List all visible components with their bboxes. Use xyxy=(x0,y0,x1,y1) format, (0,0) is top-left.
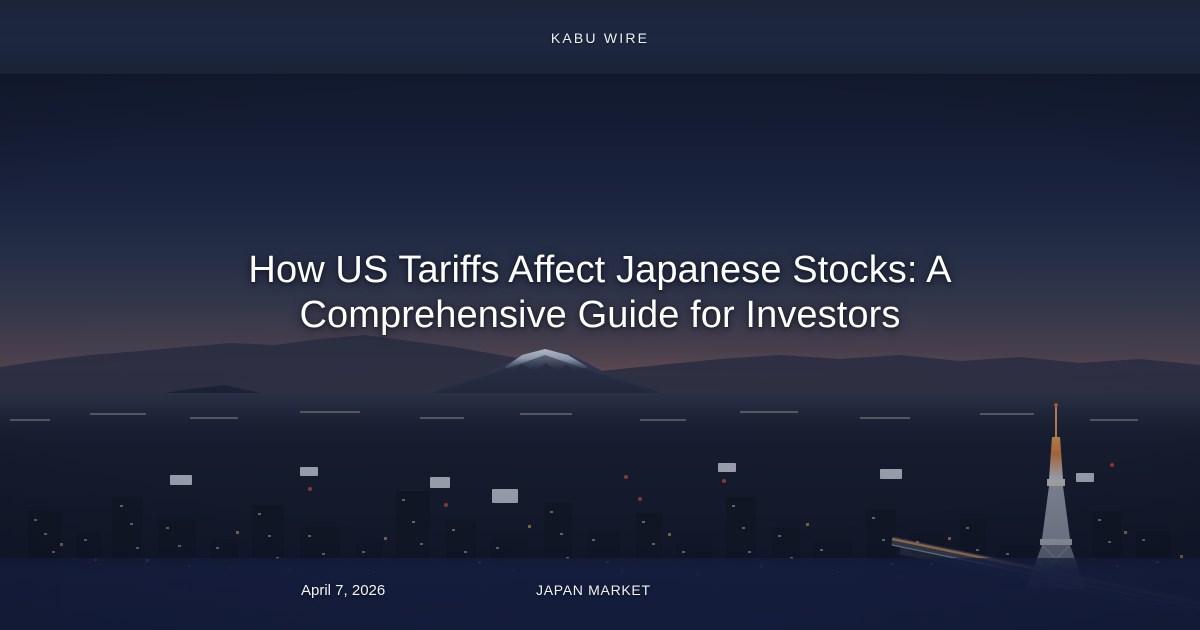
publish-date: April 7, 2026 xyxy=(301,582,385,599)
site-brand-name[interactable]: KABU WIRE xyxy=(551,30,649,46)
article-title-line-1: How US Tariffs Affect Japanese Stocks: A xyxy=(150,248,1050,293)
article-title-line-2: Comprehensive Guide for Investors xyxy=(150,293,1050,338)
article-title: How US Tariffs Affect Japanese Stocks: A… xyxy=(0,248,1200,338)
article-meta-row: April 7, 2026 JAPAN MARKET xyxy=(0,578,1200,602)
site-header-bar: KABU WIRE xyxy=(0,0,1200,75)
category-label[interactable]: JAPAN MARKET xyxy=(536,582,651,598)
hero-background-photo xyxy=(0,75,1200,630)
article-hero-card: KABU WIRE xyxy=(0,0,1200,630)
